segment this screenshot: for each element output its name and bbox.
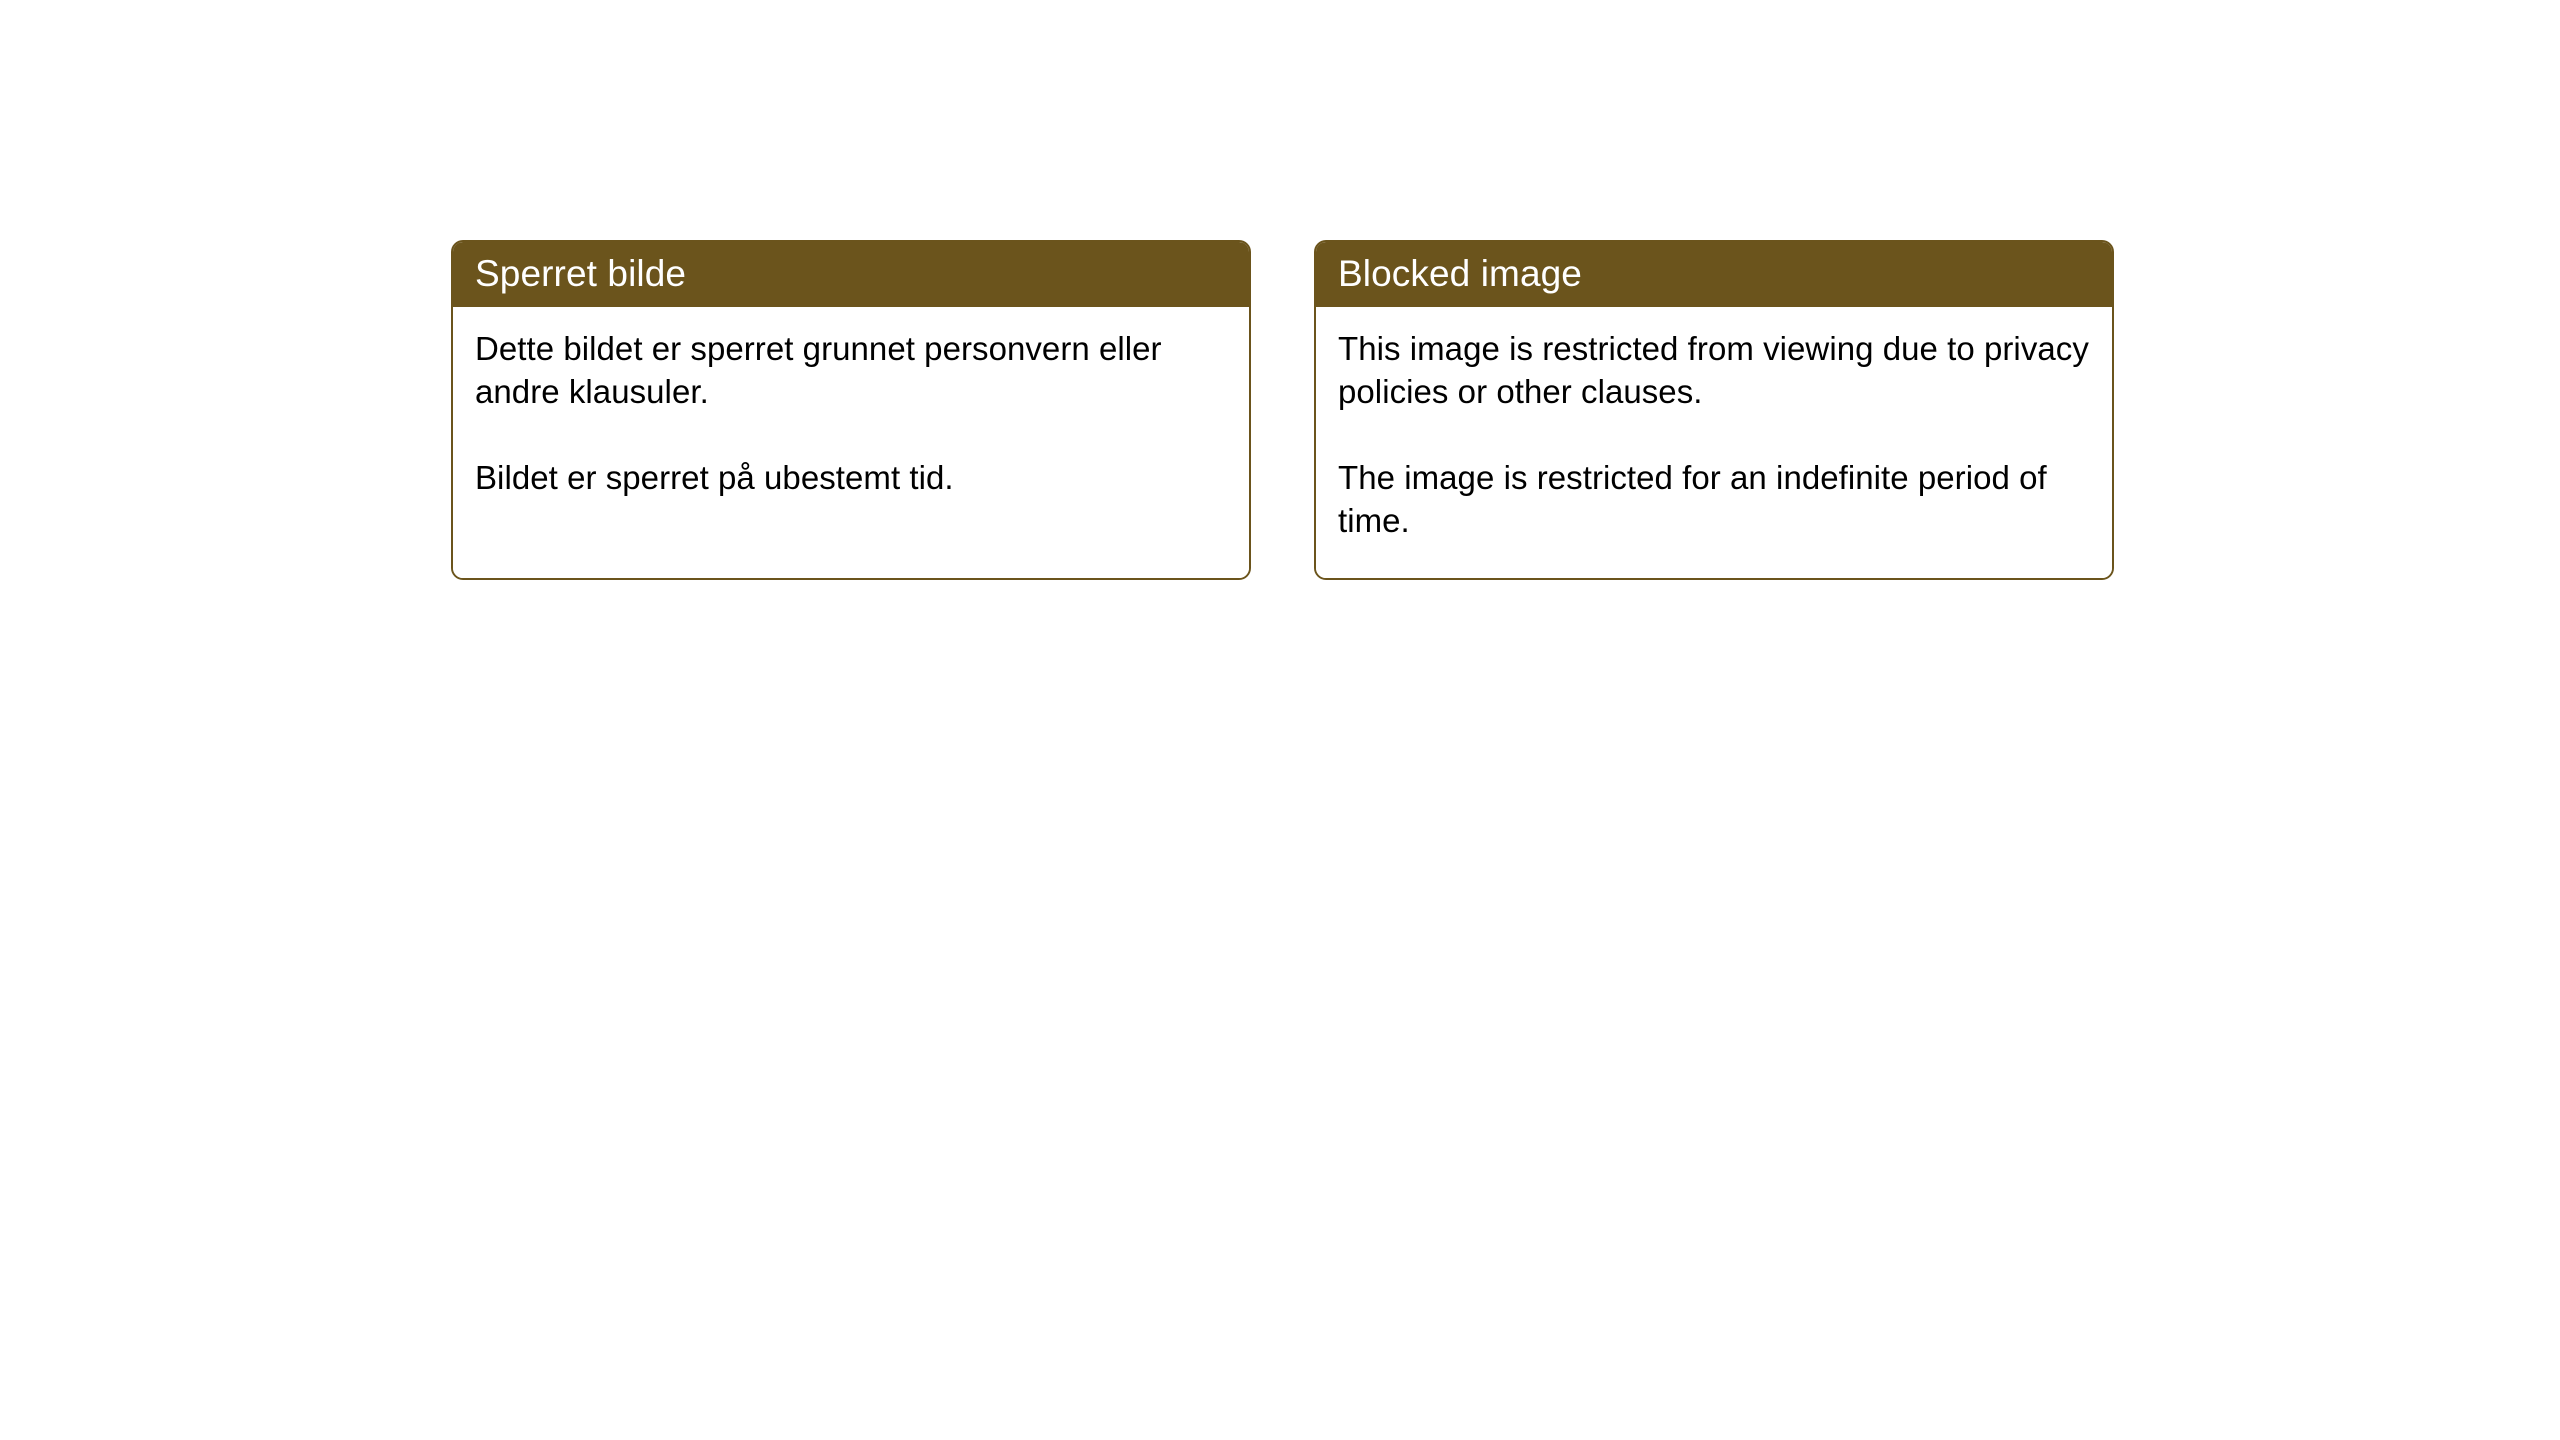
blocked-image-notice-group: Sperret bilde Dette bildet er sperret gr… bbox=[451, 240, 2114, 580]
card-paragraph: Bildet er sperret på ubestemt tid. bbox=[475, 456, 1227, 499]
blocked-image-card-english: Blocked image This image is restricted f… bbox=[1314, 240, 2114, 580]
card-title-norwegian: Sperret bilde bbox=[453, 242, 1249, 307]
card-title-english: Blocked image bbox=[1316, 242, 2112, 307]
page-root: Sperret bilde Dette bildet er sperret gr… bbox=[0, 0, 2560, 1440]
blocked-image-card-norwegian: Sperret bilde Dette bildet er sperret gr… bbox=[451, 240, 1251, 580]
card-paragraph: Dette bildet er sperret grunnet personve… bbox=[475, 327, 1227, 413]
card-body-norwegian: Dette bildet er sperret grunnet personve… bbox=[453, 307, 1249, 578]
card-paragraph: This image is restricted from viewing du… bbox=[1338, 327, 2090, 413]
card-body-english: This image is restricted from viewing du… bbox=[1316, 307, 2112, 578]
card-paragraph: The image is restricted for an indefinit… bbox=[1338, 456, 2090, 542]
